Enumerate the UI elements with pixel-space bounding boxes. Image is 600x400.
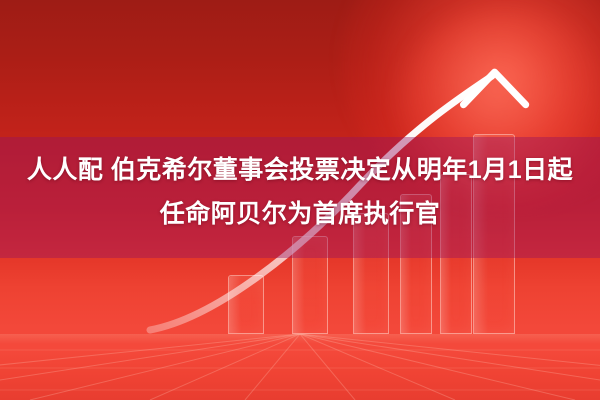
chart-bar-1 (228, 275, 264, 334)
page-title: 人人配 伯克希尔董事会投票决定从明年1月1日起 任命阿贝尔为首席执行官 (0, 148, 600, 236)
promo-banner: 人人配 伯克希尔董事会投票决定从明年1月1日起 任命阿贝尔为首席执行官 (0, 0, 600, 400)
headline-line-2: 任命阿贝尔为首席执行官 (0, 192, 600, 236)
headline-line-1: 人人配 伯克希尔董事会投票决定从明年1月1日起 (27, 156, 573, 184)
bar-gloss (229, 276, 241, 333)
bar-gloss (293, 237, 305, 333)
arrow-head (463, 72, 527, 136)
perspective-floor (0, 334, 600, 400)
floor-grid (0, 334, 600, 400)
chart-bar-2 (292, 236, 328, 334)
